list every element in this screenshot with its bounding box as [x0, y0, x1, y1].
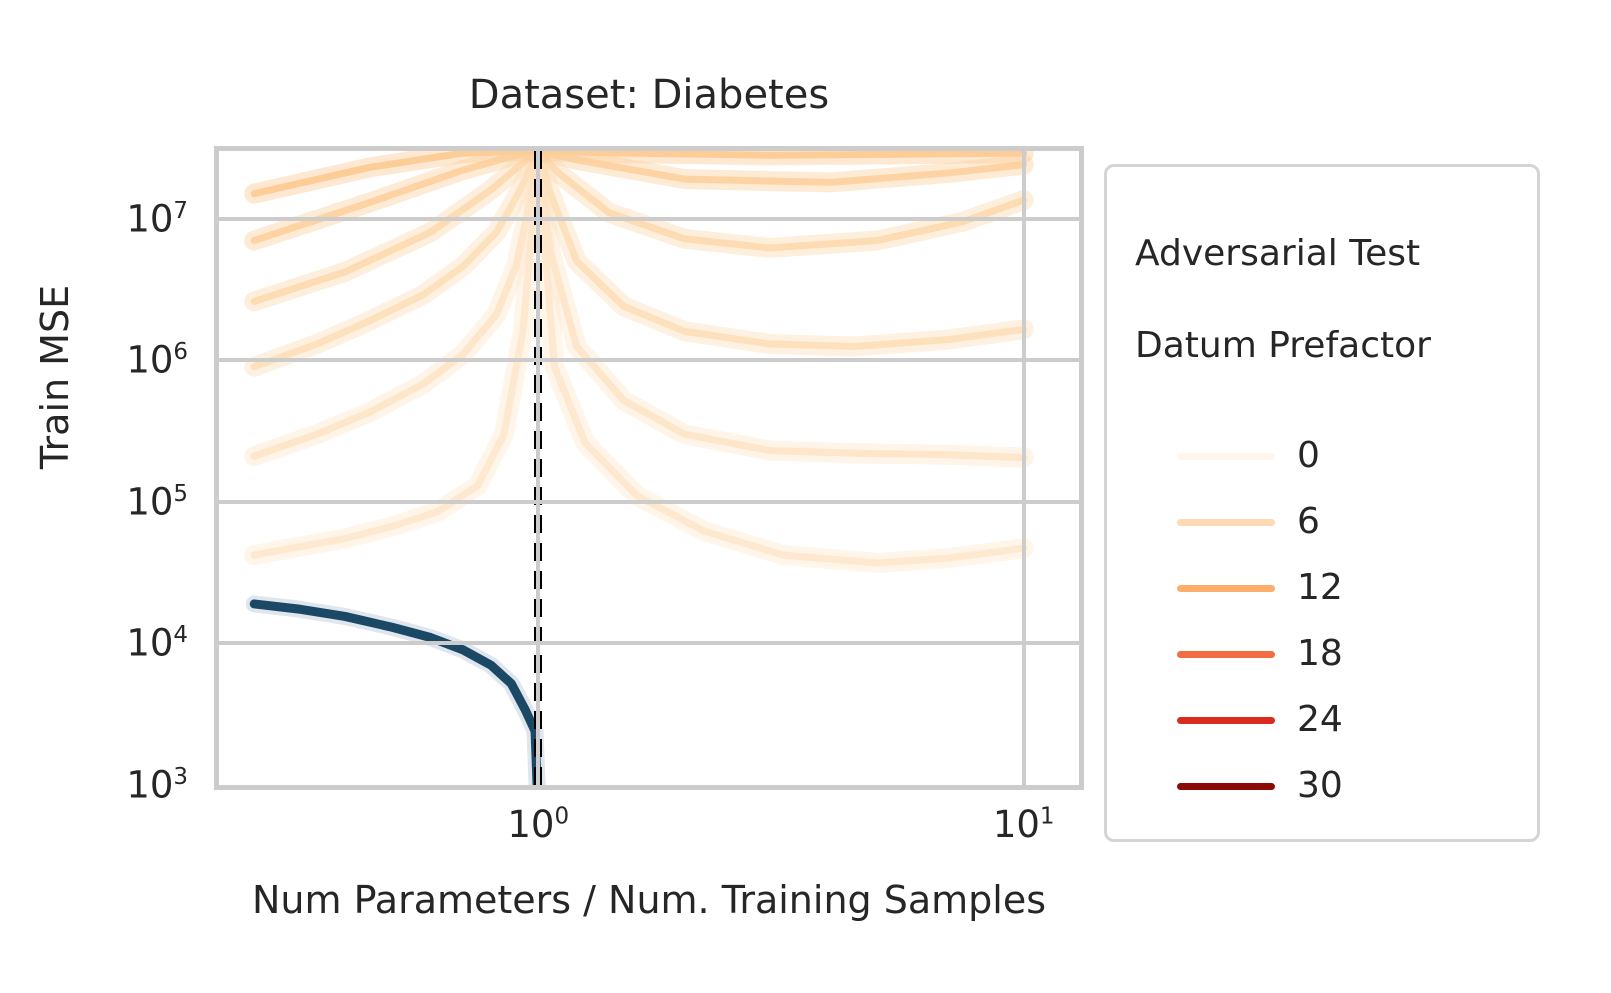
legend-swatch-24 [1177, 717, 1275, 724]
legend-swatch-18 [1177, 651, 1275, 658]
legend-label-30: 30 [1297, 768, 1343, 804]
y-tick-label: 104 [126, 625, 188, 662]
legend-label-24: 24 [1297, 702, 1343, 738]
chart-title-line-1: Dataset: Diabetes [214, 69, 1084, 122]
legend: Adversarial Test Datum Prefactor 0612182… [1104, 164, 1540, 842]
legend-item-12[interactable]: 12 [1125, 555, 1519, 621]
legend-entries: 0612182430 [1125, 423, 1519, 819]
legend-item-6[interactable]: 6 [1125, 489, 1519, 555]
gridline-horizontal [219, 500, 1079, 504]
series-lines [219, 151, 1079, 785]
series-line-0 [254, 604, 538, 785]
x-tick-label: 101 [993, 806, 1055, 843]
gridline-horizontal [219, 358, 1079, 362]
legend-item-18[interactable]: 18 [1125, 621, 1519, 687]
y-tick-label: 103 [126, 767, 188, 804]
gridline-vertical [536, 151, 540, 785]
plot-area [214, 146, 1084, 790]
gridline-vertical [1022, 151, 1026, 785]
legend-title-line-2: Datum Prefactor [1135, 323, 1519, 369]
x-tick-label: 100 [507, 806, 569, 843]
chart-root: Dataset: Diabetes Adversarial Manipulati… [0, 0, 1611, 993]
legend-item-0[interactable]: 0 [1125, 423, 1519, 489]
legend-item-30[interactable]: 30 [1125, 753, 1519, 819]
gridline-horizontal [219, 641, 1079, 645]
gridline-horizontal [219, 217, 1079, 221]
legend-swatch-0 [1177, 453, 1275, 460]
legend-label-18: 18 [1297, 636, 1343, 672]
plot-inner [219, 151, 1079, 785]
legend-label-6: 6 [1297, 504, 1320, 540]
legend-label-0: 0 [1297, 438, 1320, 474]
legend-label-12: 12 [1297, 570, 1343, 606]
x-axis-label: Num Parameters / Num. Training Samples [214, 878, 1084, 922]
legend-title: Adversarial Test Datum Prefactor [1135, 185, 1519, 415]
y-tick-label: 105 [126, 483, 188, 520]
y-tick-label: 106 [126, 342, 188, 379]
legend-swatch-12 [1177, 585, 1275, 592]
legend-item-24[interactable]: 24 [1125, 687, 1519, 753]
legend-swatch-30 [1177, 783, 1275, 790]
legend-title-line-1: Adversarial Test [1135, 231, 1519, 277]
y-tick-label: 107 [126, 200, 188, 237]
legend-swatch-6 [1177, 519, 1275, 526]
y-axis-label: Train MSE [33, 227, 77, 527]
